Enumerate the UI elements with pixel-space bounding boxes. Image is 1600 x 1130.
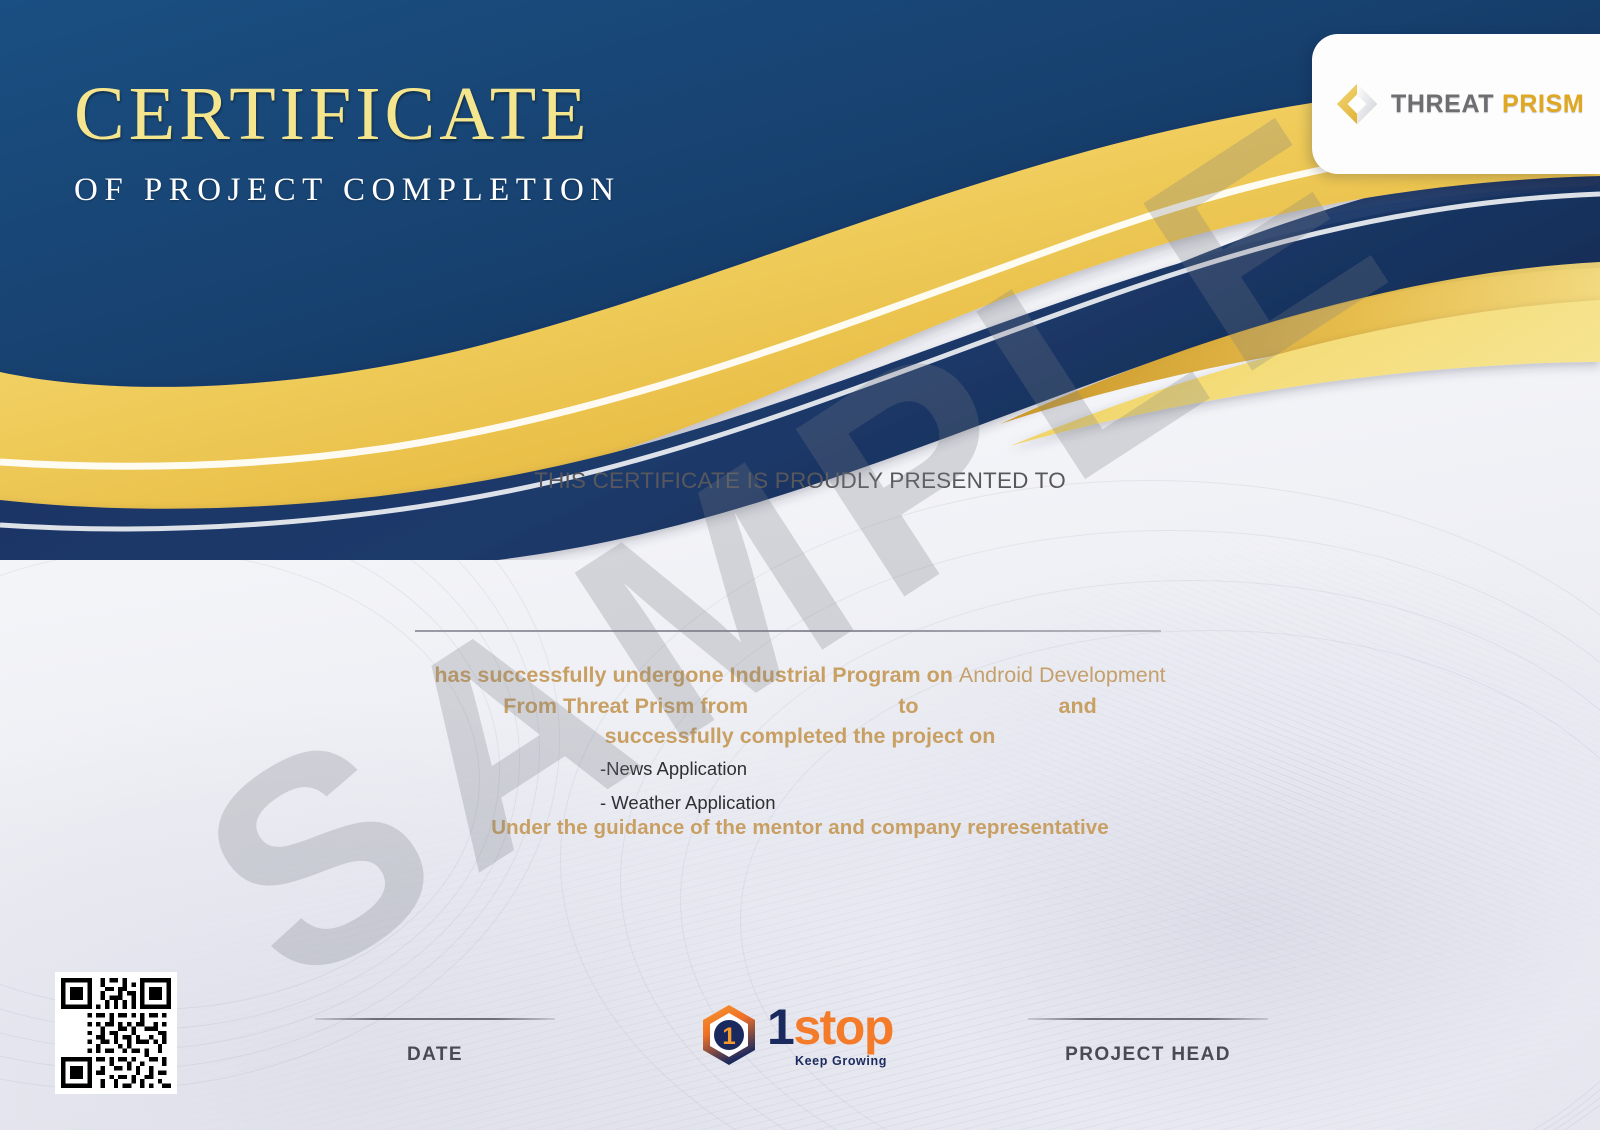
svg-text:1: 1 [722,1023,735,1050]
guidance-text: Under the guidance of the mentor and com… [300,816,1300,840]
istop-numeral: 1 [767,999,793,1055]
recipient-name-line [415,630,1161,632]
certificate-heading-group: CERTIFICATE OF PROJECT COMPLETION [74,76,621,209]
list-item: - Weather Application [600,790,776,816]
qr-code-image [61,978,171,1088]
project-list: -News Application - Weather Application [600,756,776,824]
list-item: -News Application [600,756,776,782]
signature-line [315,1018,555,1020]
istop-word-group: 1stop [767,1002,893,1052]
body-line-2-to-label: to [898,694,918,718]
signature-label: PROJECT HEAD [1028,1044,1268,1066]
signature-block-date: DATE [315,1018,555,1066]
body-line-2: From Threat Prism fromtoand [300,691,1300,722]
body-program-name: Android Development [959,663,1166,687]
threat-prism-word-primary: THREAT [1391,90,1494,118]
istop-hexagon-icon: 1 [700,1004,758,1066]
istop-word: stop [793,999,893,1055]
signature-block-project-head: PROJECT HEAD [1028,1018,1268,1066]
diamond-prism-icon [1334,81,1380,127]
signature-line [1028,1018,1268,1020]
threat-prism-logo: THREATPRISM [1312,34,1600,174]
presented-to-label: THIS CERTIFICATE IS PROUDLY PRESENTED TO [0,468,1600,494]
page-title: CERTIFICATE [74,76,621,152]
body-line-3: successfully completed the project on [300,721,1300,752]
istop-tagline: Keep Growing [795,1054,893,1068]
istop-logo: 1 1stop Keep Growing [700,1002,893,1068]
istop-wordmark: 1stop Keep Growing [767,1002,893,1068]
certificate-body-text: has successfully undergone Industrial Pr… [300,660,1300,752]
verification-qr-code[interactable] [55,972,177,1094]
certificate-document: CERTIFICATE OF PROJECT COMPLETION THREAT… [0,0,1600,1130]
body-line-2-prefix: From Threat Prism from [503,694,748,718]
body-line-1: has successfully undergone Industrial Pr… [300,660,1300,691]
body-line-2-and: and [1058,694,1096,718]
threat-prism-wordmark: THREATPRISM [1391,90,1584,119]
page-subtitle: OF PROJECT COMPLETION [74,172,621,209]
signature-label: DATE [315,1044,555,1066]
body-line-1-text: has successfully undergone Industrial Pr… [434,663,958,687]
threat-prism-word-secondary: PRISM [1502,90,1584,118]
